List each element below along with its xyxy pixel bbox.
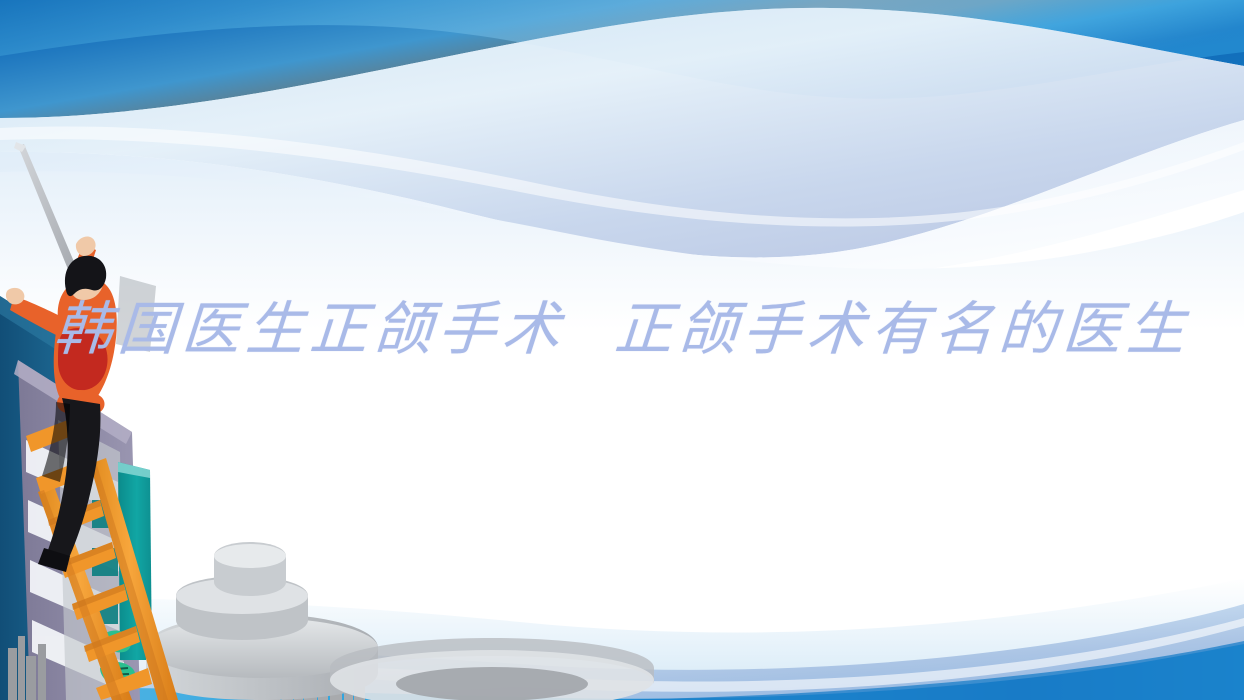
worker-illustration [0, 0, 1244, 700]
grey-platform-group [146, 542, 654, 700]
worker-hand-left [6, 288, 24, 304]
worker-shadow [116, 276, 156, 352]
banner-image: 韩国医生正颌手术 正颌手术有名的医生 [0, 0, 1244, 700]
